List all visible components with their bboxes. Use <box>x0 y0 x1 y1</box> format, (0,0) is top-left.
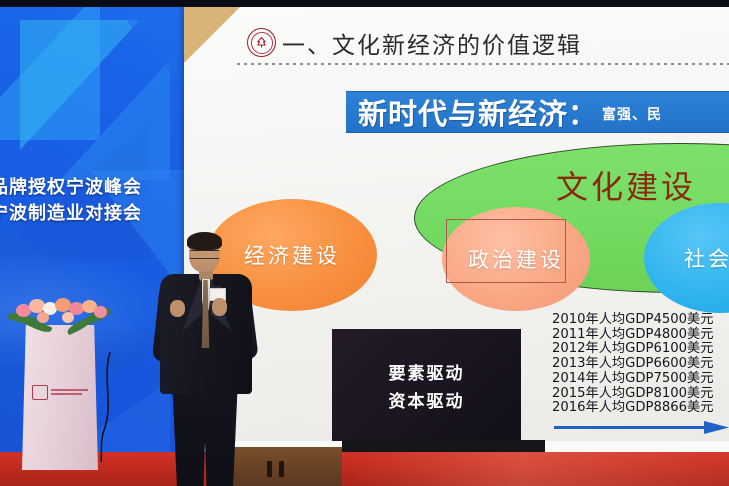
gdp-row: 2014年人均GDP7500美元 <box>552 372 713 387</box>
gdp-row: 2012年人均GDP6100美元 <box>552 342 713 357</box>
projection-screen: 一、文化新经济的价值逻辑 新时代与新经济： 富强、民 文化建设 经济建设 政治建… <box>184 7 729 455</box>
gdp-row: 2013年人均GDP6600美元 <box>552 357 713 372</box>
conference-stage-photo: 品牌授权宁波峰会 宁波制造业对接会 一、文化新经济的价值逻辑 新时代与新经济： … <box>0 0 729 486</box>
headline-main-text: 新时代与新经济： <box>358 91 598 133</box>
slide-title: 一、文化新经济的价值逻辑 <box>282 26 582 60</box>
left-banner-line-1: 品牌授权宁波峰会 <box>0 174 140 200</box>
ellipse-label-economic: 经济建设 <box>244 240 340 270</box>
left-event-banner: 品牌授权宁波峰会 宁波制造业对接会 <box>0 158 140 242</box>
presenter-right-hand <box>212 298 227 316</box>
carpet-light-sheen <box>350 452 729 486</box>
headline-sub-text: 富强、民 <box>602 104 662 132</box>
podium-event-logo <box>32 383 88 401</box>
stage-monitor-speaker <box>227 447 342 486</box>
driver-line-1: 要素驱动 <box>389 359 465 384</box>
driver-line-2: 资本驱动 <box>389 387 465 412</box>
presenter-glasses-icon <box>190 250 219 259</box>
podium-logo-mark-icon <box>32 385 48 400</box>
blue-right-arrow-icon <box>554 421 729 434</box>
dark-drivers-box: 要素驱动 资本驱动 <box>332 329 521 442</box>
gdp-row: 2015年人均GDP8100美元 <box>552 387 713 402</box>
white-podium <box>22 325 98 470</box>
flower-arrangement <box>10 296 112 334</box>
gdp-row: 2010年人均GDP4500美元 <box>552 313 713 328</box>
slide-headline-banner: 新时代与新经济： 富强、民 <box>346 91 729 133</box>
presenter-hair <box>187 232 222 250</box>
green-ellipse-label: 文化建设 <box>556 162 696 208</box>
tan-corner-decoration <box>184 7 240 63</box>
podium-logo-text-lines <box>51 389 88 395</box>
gdp-row: 2016年人均GDP8866美元 <box>552 401 713 416</box>
ceiling-dark-band <box>0 0 729 7</box>
slide-canvas: 一、文化新经济的价值逻辑 新时代与新经济： 富强、民 文化建设 经济建设 政治建… <box>184 7 729 455</box>
ellipse-label-political: 政治建设 <box>468 244 564 274</box>
ellipse-label-social: 社会 <box>684 243 729 273</box>
left-banner-line-2: 宁波制造业对接会 <box>0 200 140 226</box>
ellipse-political-construction: 政治建设 <box>442 207 590 311</box>
presenter-left-hand <box>170 300 185 317</box>
title-dotted-divider <box>237 63 729 65</box>
gdp-per-capita-list: 2010年人均GDP4500美元 2011年人均GDP4800美元 2012年人… <box>552 313 713 416</box>
microphone-cable <box>96 352 116 462</box>
peking-university-seal-icon <box>247 28 276 57</box>
